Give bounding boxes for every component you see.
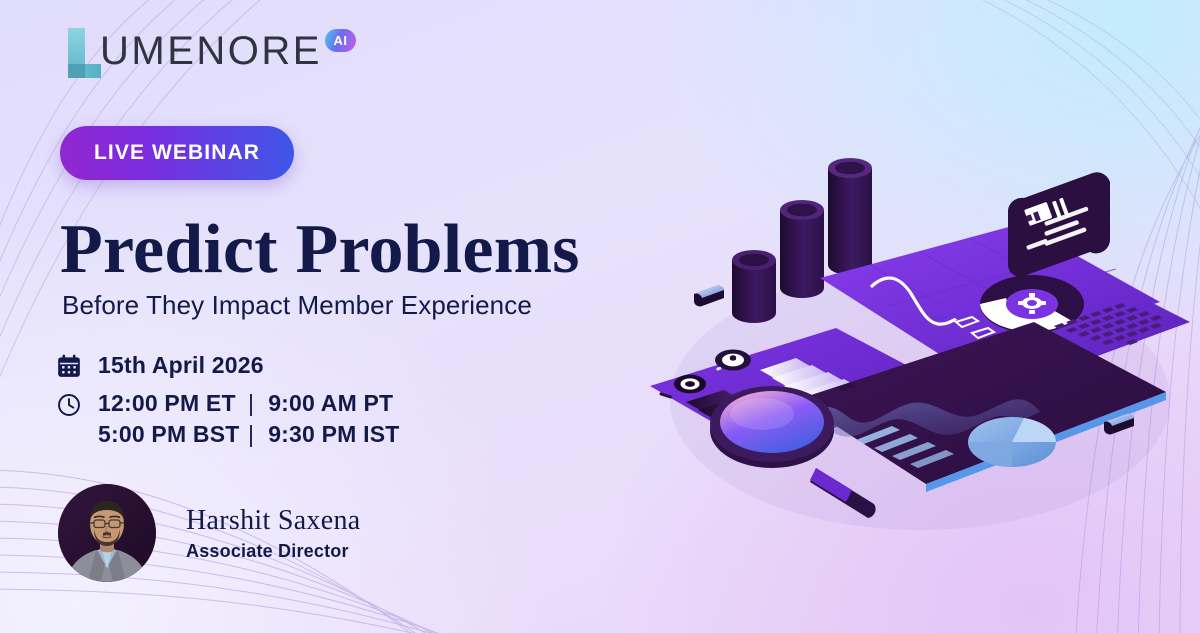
lumenore-l-mark-icon (62, 26, 102, 78)
speaker-block: Harshit Saxena Associate Director (58, 484, 360, 582)
date-row: 15th April 2026 (56, 352, 399, 379)
live-webinar-badge: LIVE WEBINAR (60, 126, 294, 180)
time-primary: 5:00 PM BST (98, 421, 248, 448)
floating-chip-left (694, 286, 724, 307)
time-secondary: 9:00 AM PT (268, 390, 393, 417)
calendar-icon (56, 353, 90, 379)
avatar (58, 484, 156, 582)
time-row: 12:00 PM ET | 9:00 AM PT (98, 388, 399, 419)
brand-logo[interactable]: UMENORE AI (62, 26, 356, 84)
time-secondary: 9:30 PM IST (268, 421, 399, 448)
ai-badge: AI (325, 29, 356, 52)
speaker-title: Associate Director (186, 541, 360, 562)
speaker-name: Harshit Saxena (186, 505, 360, 537)
webinar-banner: UMENORE AI LIVE WEBINAR Predict Problems… (0, 0, 1200, 633)
page-subtitle: Before They Impact Member Experience (62, 290, 532, 321)
schedule-block: 15th April 2026 12:00 PM ET | 9:00 AM PT… (56, 352, 399, 450)
time-row: 5:00 PM BST | 9:30 PM IST (98, 419, 399, 450)
clock-icon (56, 392, 90, 418)
time-block: 12:00 PM ET | 9:00 AM PT 5:00 PM BST | 9… (56, 388, 399, 450)
time-separator: | (248, 390, 254, 417)
speaker-headshot-icon (58, 484, 156, 582)
tooltip-card (1008, 172, 1110, 276)
brand-logo-text: UMENORE (100, 26, 322, 76)
page-title: Predict Problems (60, 213, 580, 287)
time-primary: 12:00 PM ET (98, 390, 248, 417)
isometric-analytics-illustration (620, 70, 1200, 540)
time-separator: | (248, 421, 254, 448)
webinar-date: 15th April 2026 (98, 352, 264, 379)
